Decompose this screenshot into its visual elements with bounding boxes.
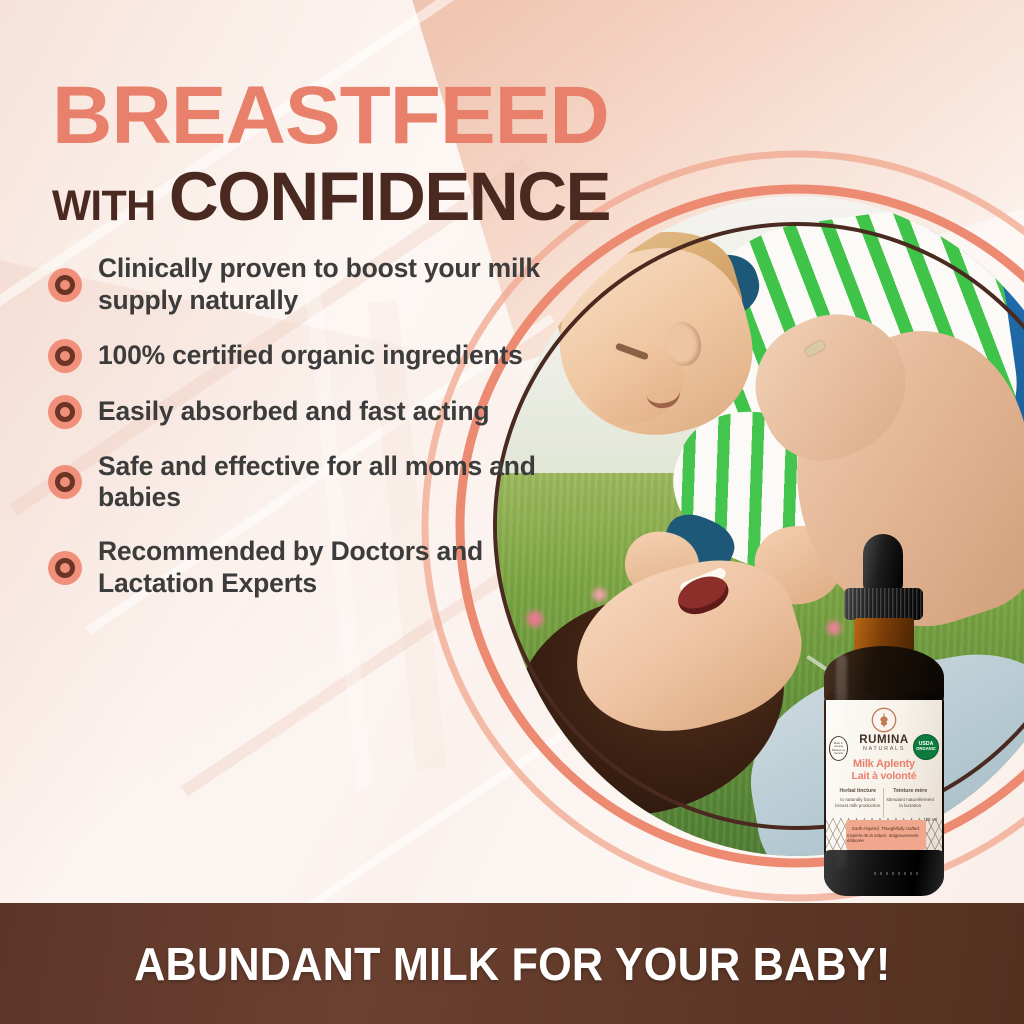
dropper-tip: [863, 534, 903, 594]
bullet-circle-icon: [48, 268, 82, 302]
benefit-item: Easily absorbed and fast acting: [48, 395, 548, 429]
label-tagline-en: Earth inspired, Thoughtfully crafted.: [852, 826, 920, 831]
benefit-text: 100% certified organic ingredients: [98, 340, 523, 372]
bottle-highlight: [836, 654, 847, 869]
bullet-circle-icon: [48, 339, 82, 373]
advertisement-canvas: RUMINA NATURALS Milk Aplenty Lait à volo…: [0, 0, 1024, 1024]
label-description: Herbal tincture to naturally boost breas…: [834, 788, 934, 810]
label-desc-fr-body: stimulant naturellement la lactation: [887, 797, 935, 809]
benefit-item: Safe and effective for all moms and babi…: [48, 451, 548, 515]
benefit-item: Recommended by Doctors and Lactation Exp…: [48, 536, 548, 600]
benefit-text: Easily absorbed and fast acting: [98, 396, 489, 428]
bullet-circle-icon: [48, 465, 82, 499]
benefit-text: Safe and effective for all moms and babi…: [98, 451, 548, 515]
bottom-banner: ABUNDANT MILK FOR YOUR BABY!: [0, 903, 1024, 1024]
leaf-emblem-icon: [871, 707, 897, 733]
label-description-fr: Teinture mère stimulant naturellement la…: [887, 788, 935, 810]
product-bottle: RUMINA NATURALS Milk Aplenty Lait à volo…: [806, 534, 961, 896]
bullet-circle-icon: [48, 395, 82, 429]
headline-confidence-word: CONFIDENCE: [169, 157, 610, 236]
benefit-text: Clinically proven to boost your milk sup…: [98, 253, 548, 317]
headline-with-word: WITH: [52, 182, 156, 231]
benefit-item: Clinically proven to boost your milk sup…: [48, 253, 548, 317]
label-desc-fr-head: Teinture mère: [887, 788, 935, 796]
label-divider: [883, 788, 884, 818]
label-tagline-fr: Inspirée de la nature, Soigneusement éla…: [847, 833, 925, 844]
label-tagline-banner: Earth inspired, Thoughtfully crafted. In…: [846, 820, 926, 850]
usda-seal-line-2: ORGANIC: [916, 747, 936, 752]
bottom-banner-text: ABUNDANT MILK FOR YOUR BABY!: [134, 937, 890, 991]
benefit-text: Recommended by Doctors and Lactation Exp…: [98, 536, 548, 600]
benefits-list: Clinically proven to boost your milk sup…: [48, 253, 548, 622]
benefit-item: 100% certified organic ingredients: [48, 339, 548, 373]
headline: BREASTFEED WITH CONFIDENCE: [52, 78, 692, 236]
headline-line-1: BREASTFEED: [52, 78, 705, 153]
bullet-circle-icon: [48, 551, 82, 585]
dropper-cap: [844, 588, 923, 620]
headline-line-2: WITH CONFIDENCE: [52, 157, 692, 236]
usda-organic-seal: USDA ORGANIC: [913, 734, 939, 760]
